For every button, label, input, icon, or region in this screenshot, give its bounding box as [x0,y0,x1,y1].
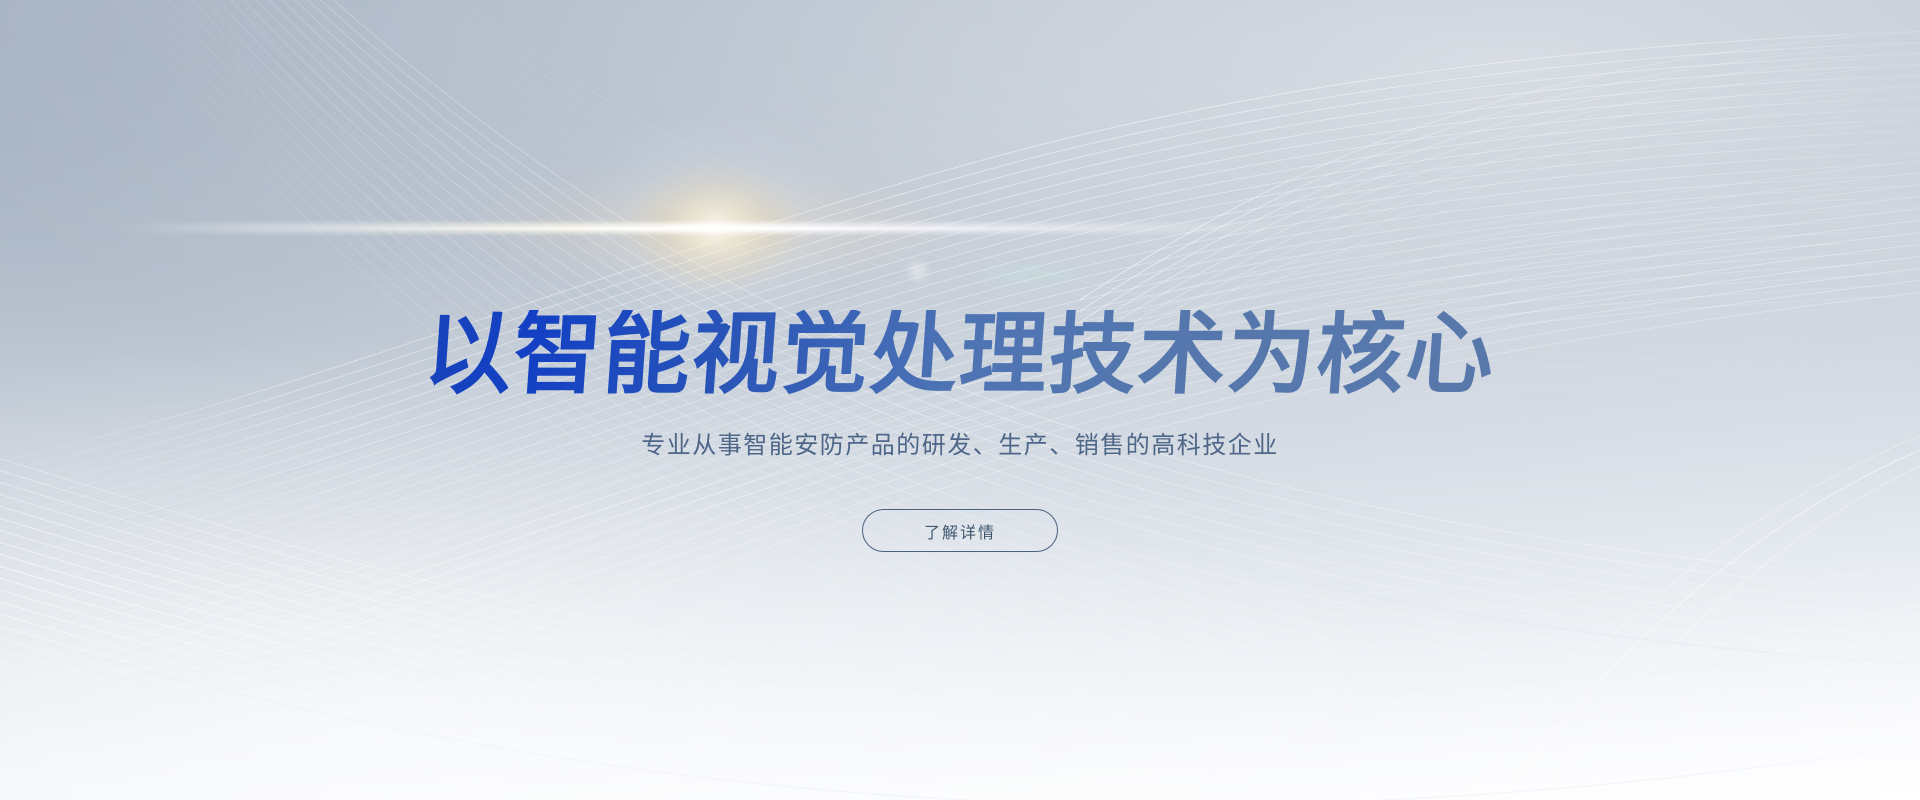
page-title: 以智能视觉处理技术为核心 [26,310,1895,400]
learn-more-button[interactable]: 了解详情 [862,509,1058,552]
hero-banner: 以智能视觉处理技术为核心 专业从事智能安防产品的研发、生产、销售的高科技企业 了… [0,0,1920,800]
cta-container: 了解详情 [0,509,1920,552]
hero-subtitle: 专业从事智能安防产品的研发、生产、销售的高科技企业 [0,429,1920,463]
